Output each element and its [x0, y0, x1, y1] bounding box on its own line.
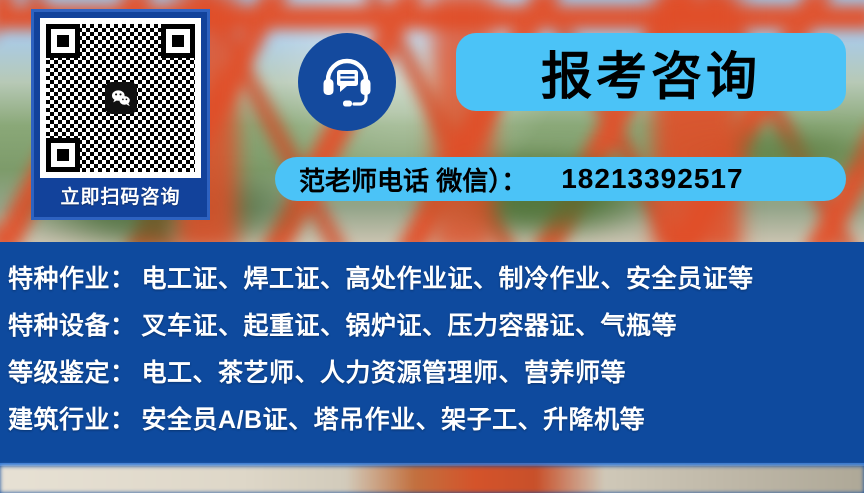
title-badge: 报考咨询	[456, 33, 846, 111]
category-items: 安全员A/B证、塔吊作业、架子工、升降机等	[142, 406, 646, 434]
category-items: 电工证、焊工证、高处作业证、制冷作业、安全员证等	[142, 265, 754, 293]
qr-finder-top-right	[161, 24, 195, 58]
background-photo-bottom	[0, 466, 864, 493]
phone-badge[interactable]: 范老师电话 微信）： 18213392517	[275, 157, 846, 201]
course-categories-panel: 特种作业：电工证、焊工证、高处作业证、制冷作业、安全员证等 特种设备：叉车证、起…	[0, 242, 864, 466]
phone-number[interactable]: 18213392517	[561, 163, 743, 195]
category-label: 建筑行业：	[8, 406, 136, 434]
phone-label: 范老师电话 微信）：	[299, 161, 527, 198]
qr-finder-top-left	[46, 24, 80, 58]
category-row-construction-industry: 建筑行业：安全员A/B证、塔吊作业、架子工、升降机等	[8, 397, 864, 444]
category-label: 特种设备：	[8, 312, 136, 340]
category-row-grade-assessment: 等级鉴定：电工、茶艺师、人力资源管理师、营养师等	[8, 350, 864, 397]
wechat-icon	[105, 82, 137, 114]
promo-banner: 立即扫码咨询 报考咨询 范老师电话 微信）： 18213392517 特种作业：…	[0, 0, 864, 493]
qr-code-image-frame	[40, 18, 201, 178]
customer-service-badge[interactable]	[298, 33, 396, 131]
qr-finder-bottom-left	[46, 138, 80, 172]
qr-panel-label: 立即扫码咨询	[40, 178, 201, 218]
category-items: 电工、茶艺师、人力资源管理师、营养师等	[142, 359, 627, 387]
category-label: 特种作业：	[8, 265, 136, 293]
category-row-special-operations: 特种作业：电工证、焊工证、高处作业证、制冷作业、安全员证等	[8, 256, 864, 303]
category-items: 叉车证、起重证、锅炉证、压力容器证、气瓶等	[142, 312, 678, 340]
headset-chat-icon	[316, 51, 378, 113]
category-row-special-equipment: 特种设备：叉车证、起重证、锅炉证、压力容器证、气瓶等	[8, 303, 864, 350]
qr-code-panel[interactable]: 立即扫码咨询	[31, 9, 210, 220]
category-label: 等级鉴定：	[8, 359, 136, 387]
